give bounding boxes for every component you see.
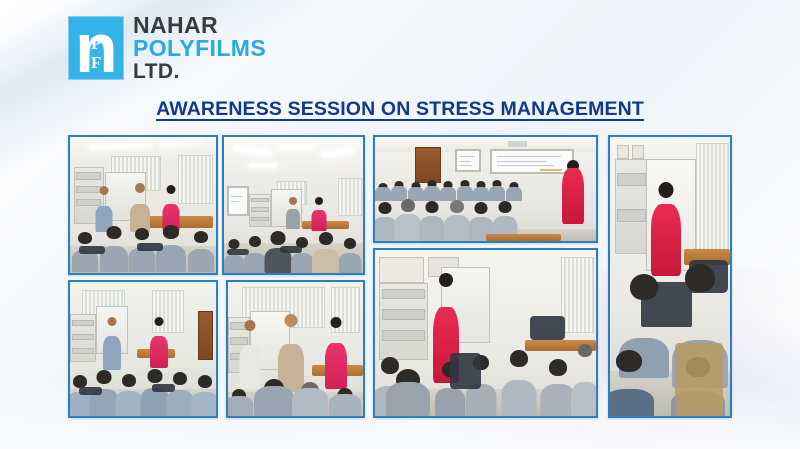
poster-canvas: n PF NAHAR POLYFILMS LTD. AWARENESS SESS…	[0, 0, 800, 449]
photo-facilitator-speaking	[373, 248, 598, 418]
photo-speaker-and-audience	[68, 280, 218, 418]
photo-audience-listening	[373, 135, 598, 243]
photo-session-wide-room	[222, 135, 365, 275]
photo-group-standing	[226, 280, 365, 418]
photo-collage	[0, 0, 800, 449]
photo-award-presentation	[68, 135, 218, 275]
photo-facilitator-tall	[608, 135, 732, 418]
